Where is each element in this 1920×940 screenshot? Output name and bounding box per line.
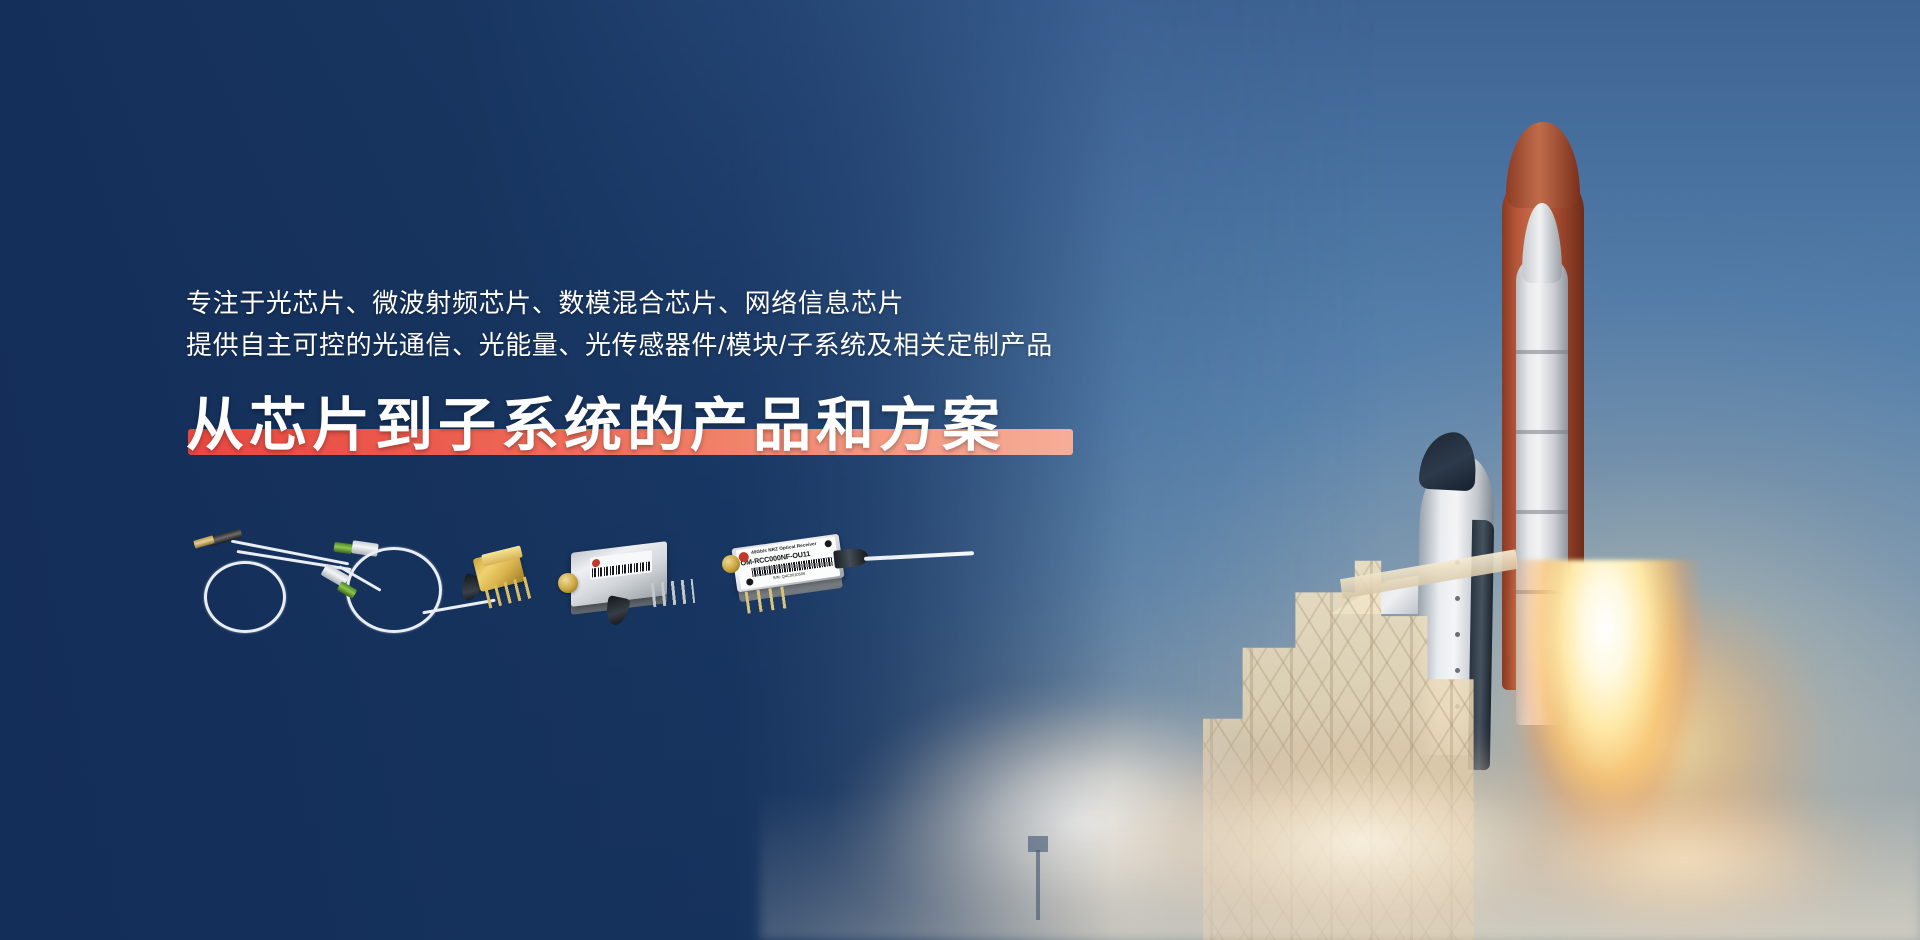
mounting-screw-icon (746, 578, 754, 586)
hero-headline-wrapper: 从芯片到子系统的产品和方案 (186, 392, 1005, 460)
fiber-coil (346, 547, 442, 633)
sma-rf-connector (558, 573, 578, 593)
left-overlay-scrim (0, 0, 1114, 940)
hero-subline-1: 专注于光芯片、微波射频芯片、数模混合芯片、网络信息芯片 (186, 282, 1286, 324)
module-pins (651, 579, 695, 607)
brand-logo-icon (592, 559, 600, 568)
booster-band (1516, 350, 1568, 354)
hero-headline: 从芯片到子系统的产品和方案 (186, 392, 1005, 460)
booster-band (1516, 430, 1568, 434)
apc-connector (333, 542, 352, 554)
fiber-ferrule-tip (193, 535, 214, 548)
hero-subline-2: 提供自主可控的光通信、光能量、光传感器件/模块/子系统及相关定制产品 (186, 324, 1286, 366)
receiver-pins (745, 586, 788, 613)
orbiter-nose-cone (1419, 431, 1478, 492)
fiber-strain-boot (603, 595, 630, 627)
product-photo-strip: 40Gb/s NRZ Optical Receiver OM-RCC000NF-… (186, 525, 1026, 645)
hero-banner: 专注于光芯片、微波射频芯片、数模混合芯片、网络信息芯片 提供自主可控的光通信、光… (0, 0, 1920, 940)
fiber-coil (204, 561, 286, 633)
hero-copy-block: 专注于光芯片、微波射频芯片、数模混合芯片、网络信息芯片 提供自主可控的光通信、光… (186, 282, 1286, 461)
fiber-cable (864, 551, 974, 561)
booster-band (1516, 510, 1568, 514)
